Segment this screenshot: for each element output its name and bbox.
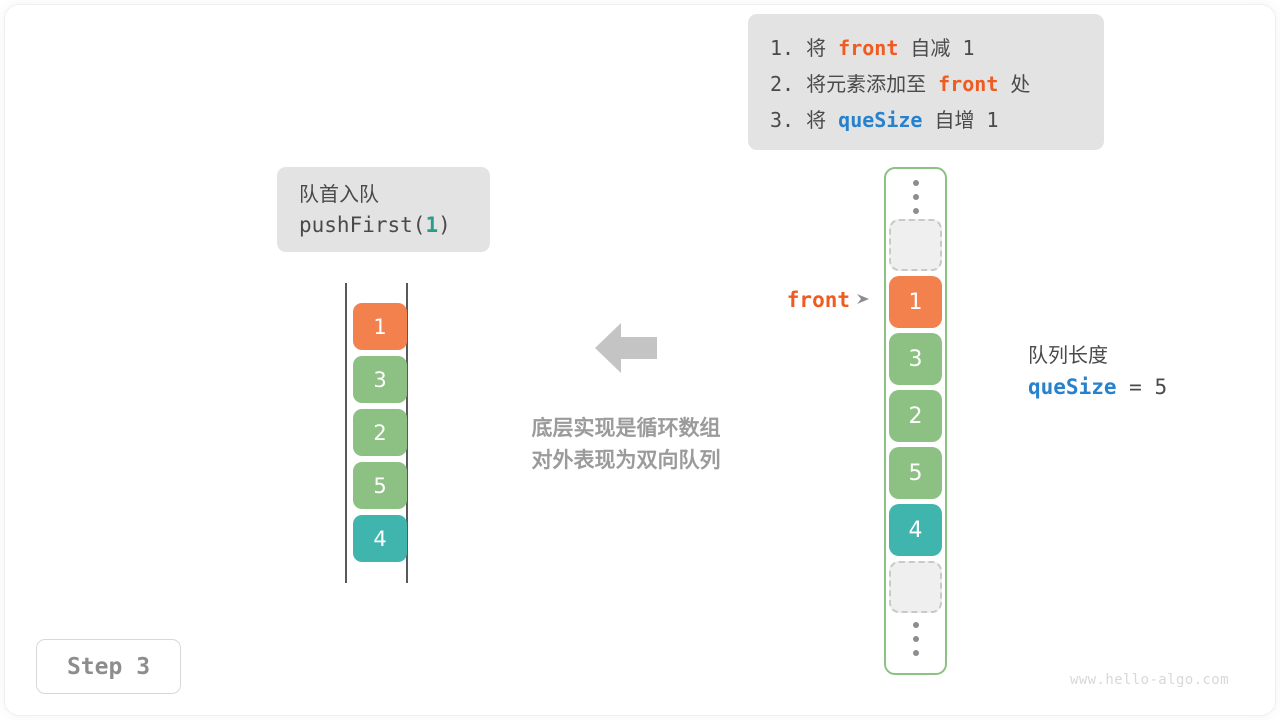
implementation-note-line-1: 底层实现是循环数组 xyxy=(498,412,754,444)
instruction-line-3: 3. 将 queSize 自增 1 xyxy=(770,102,1104,138)
instruction-callout: 1. 将 front 自减 1 2. 将元素添加至 front 处 3. 将 q… xyxy=(748,14,1104,150)
logical-deque-cell: 4 xyxy=(353,515,407,562)
circular-array-cell: 4 xyxy=(889,504,942,556)
front-pointer-arrow-icon xyxy=(857,292,870,310)
quesize-expression: queSize = 5 xyxy=(1028,371,1248,403)
circular-array: 13254 xyxy=(884,167,947,675)
circular-array-cells: 13254 xyxy=(889,214,942,613)
deque-rail-left xyxy=(345,283,347,583)
front-pointer: front xyxy=(770,283,870,317)
dot-icon xyxy=(913,650,919,656)
quesize-value-number: 5 xyxy=(1154,375,1167,399)
quesize-variable-name: queSize xyxy=(1028,375,1117,399)
implementation-note: 底层实现是循环数组 对外表现为双向队列 xyxy=(498,412,754,476)
wrap-dots-bottom-icon xyxy=(913,622,919,656)
push-first-call-argument: 1 xyxy=(425,213,438,237)
logical-deque-cell: 5 xyxy=(353,462,407,509)
wrap-dots-top-icon xyxy=(913,180,919,214)
logical-deque-cell: 1 xyxy=(353,303,407,350)
front-pointer-label: front xyxy=(787,288,850,312)
instruction-line-1: 1. 将 front 自减 1 xyxy=(770,30,1104,66)
instruction-line-2-suffix: 处 xyxy=(998,72,1030,96)
diagram-canvas: 1. 将 front 自减 1 2. 将元素添加至 front 处 3. 将 q… xyxy=(0,0,1280,720)
quesize-annotation: 队列长度 queSize = 5 xyxy=(1028,340,1248,403)
logical-deque-cells: 13254 xyxy=(353,303,403,568)
instruction-line-1-keyword: front xyxy=(838,36,898,60)
push-first-call-prefix: pushFirst( xyxy=(299,213,425,237)
circular-array-cell: 2 xyxy=(889,390,942,442)
instruction-line-3-prefix: 3. 将 xyxy=(770,108,838,132)
push-first-call-suffix: ) xyxy=(438,213,451,237)
circular-array-cell: 1 xyxy=(889,276,942,328)
watermark: www.hello-algo.com xyxy=(1070,672,1229,688)
instruction-line-2-keyword: front xyxy=(938,72,998,96)
instruction-line-3-suffix: 自增 1 xyxy=(922,108,998,132)
step-badge: Step 3 xyxy=(36,639,181,694)
logical-deque: 13254 xyxy=(340,283,414,583)
step-badge-label: Step 3 xyxy=(67,654,150,680)
instruction-line-3-keyword: queSize xyxy=(838,108,922,132)
logical-deque-cell: 2 xyxy=(353,409,407,456)
circular-array-cell: 5 xyxy=(889,447,942,499)
dot-icon xyxy=(913,194,919,200)
push-first-callout: 队首入队 pushFirst(1) xyxy=(277,167,490,252)
push-first-call: pushFirst(1) xyxy=(299,209,490,241)
instruction-line-1-suffix: 自减 1 xyxy=(898,36,974,60)
circular-array-empty-cell xyxy=(889,219,942,271)
dot-icon xyxy=(913,180,919,186)
instruction-line-2: 2. 将元素添加至 front 处 xyxy=(770,66,1104,102)
logical-deque-cell: 3 xyxy=(353,356,407,403)
implementation-note-line-2: 对外表现为双向队列 xyxy=(498,444,754,476)
instruction-line-1-prefix: 1. 将 xyxy=(770,36,838,60)
dot-icon xyxy=(913,636,919,642)
circular-array-cell: 3 xyxy=(889,333,942,385)
circular-array-empty-cell xyxy=(889,561,942,613)
dot-icon xyxy=(913,622,919,628)
quesize-equals: = xyxy=(1117,375,1155,399)
push-first-title: 队首入队 xyxy=(299,179,490,209)
quesize-title: 队列长度 xyxy=(1028,340,1248,371)
instruction-line-2-prefix: 2. 将元素添加至 xyxy=(770,72,938,96)
transform-arrow-icon xyxy=(595,320,657,376)
